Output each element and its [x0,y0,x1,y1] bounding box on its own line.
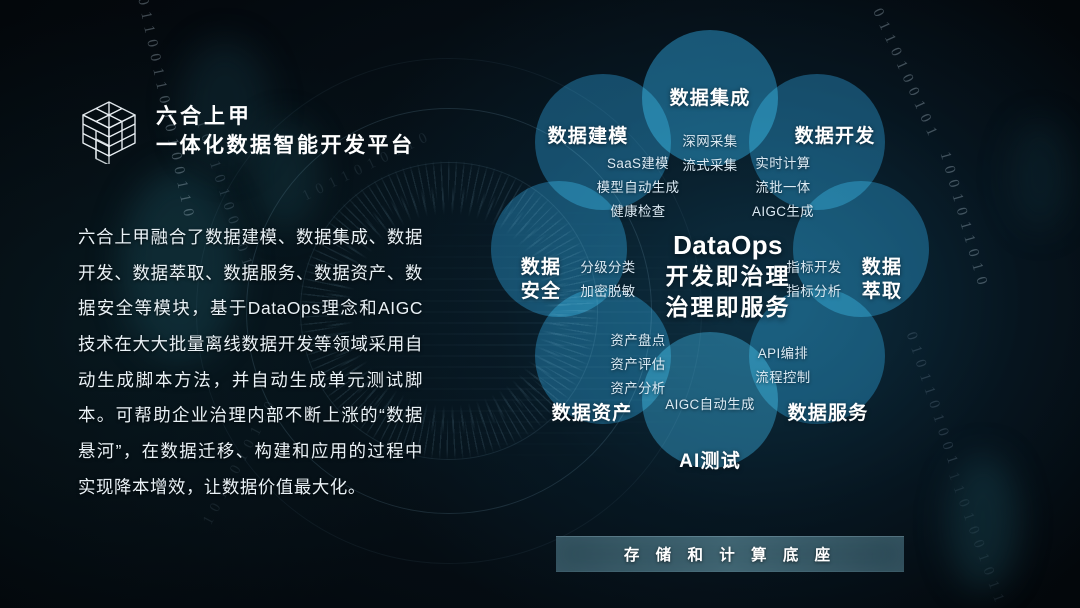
feature-list-service: API编排 流程控制 [755,342,810,390]
node-title-data-integration: 数据集成 [670,87,751,111]
node-data-development[interactable]: 数据开发 [775,122,895,152]
brand-header: 六合上甲 一体化数据智能开发平台 [78,98,423,164]
overlap-testing-features: AIGC自动生成 [645,392,775,418]
core-label-line1: 开发即治理 [666,261,791,292]
feature-list-modeling: SaaS建模 模型自动生成 健康检查 [597,152,680,224]
node-title-data-development: 数据开发 [795,125,876,149]
node-ai-testing[interactable]: AI测试 [650,447,770,477]
node-data-modeling[interactable]: 数据建模 [528,122,648,152]
brand-name: 六合上甲 [156,105,415,128]
node-title-data-assets: 数据资产 [552,402,633,426]
bokeh-glow-5 [1010,120,1070,230]
node-title-data-extraction: 数据 萃取 [862,256,902,305]
feature-list-testing: AIGC自动生成 [665,393,755,417]
node-title-data-modeling: 数据建模 [548,125,629,149]
node-data-service[interactable]: 数据服务 [768,399,888,429]
capability-venn-diagram: 数据集成 数据建模 数据开发 数据 安全 数据 萃取 数据资产 数据服务 AI测… [450,22,970,532]
feature-list-development: 实时计算 流批一体 AIGC生成 [752,152,814,224]
core-label-dataops: DataOps [673,230,783,262]
overlap-modeling-features: SaaS建模 模型自动生成 健康检查 [573,150,703,226]
slide-canvas: 0110011000100110 101101001011 1011010110… [0,0,1080,608]
brand-text-block: 六合上甲 一体化数据智能开发平台 [156,105,415,156]
node-title-data-service: 数据服务 [788,402,869,426]
foundation-bar: 存 储 和 计 算 底 座 [556,536,904,572]
left-info-panel: 六合上甲 一体化数据智能开发平台 六合上甲融合了数据建模、数据集成、数据开发、数… [78,98,423,523]
isometric-brick-wall-icon [78,98,140,164]
description-paragraph: 六合上甲融合了数据建模、数据集成、数据开发、数据萃取、数据服务、数据资产、数据安… [78,220,423,505]
foundation-bar-label: 存 储 和 计 算 底 座 [624,543,836,565]
feature-list-assets: 资产盘点 资产评估 资产分析 [610,329,665,401]
diagram-core: DataOps 开发即治理 治理即服务 [628,217,828,335]
node-data-integration[interactable]: 数据集成 [650,84,770,114]
overlap-service-features: API编排 流程控制 [718,340,848,392]
core-label-line2: 治理即服务 [666,292,791,323]
node-title-ai-testing: AI测试 [679,450,741,474]
overlap-development-features: 实时计算 流批一体 AIGC生成 [718,150,848,226]
node-title-data-security: 数据 安全 [521,256,561,305]
node-data-assets[interactable]: 数据资产 [532,399,652,429]
brand-subtitle: 一体化数据智能开发平台 [156,134,415,157]
